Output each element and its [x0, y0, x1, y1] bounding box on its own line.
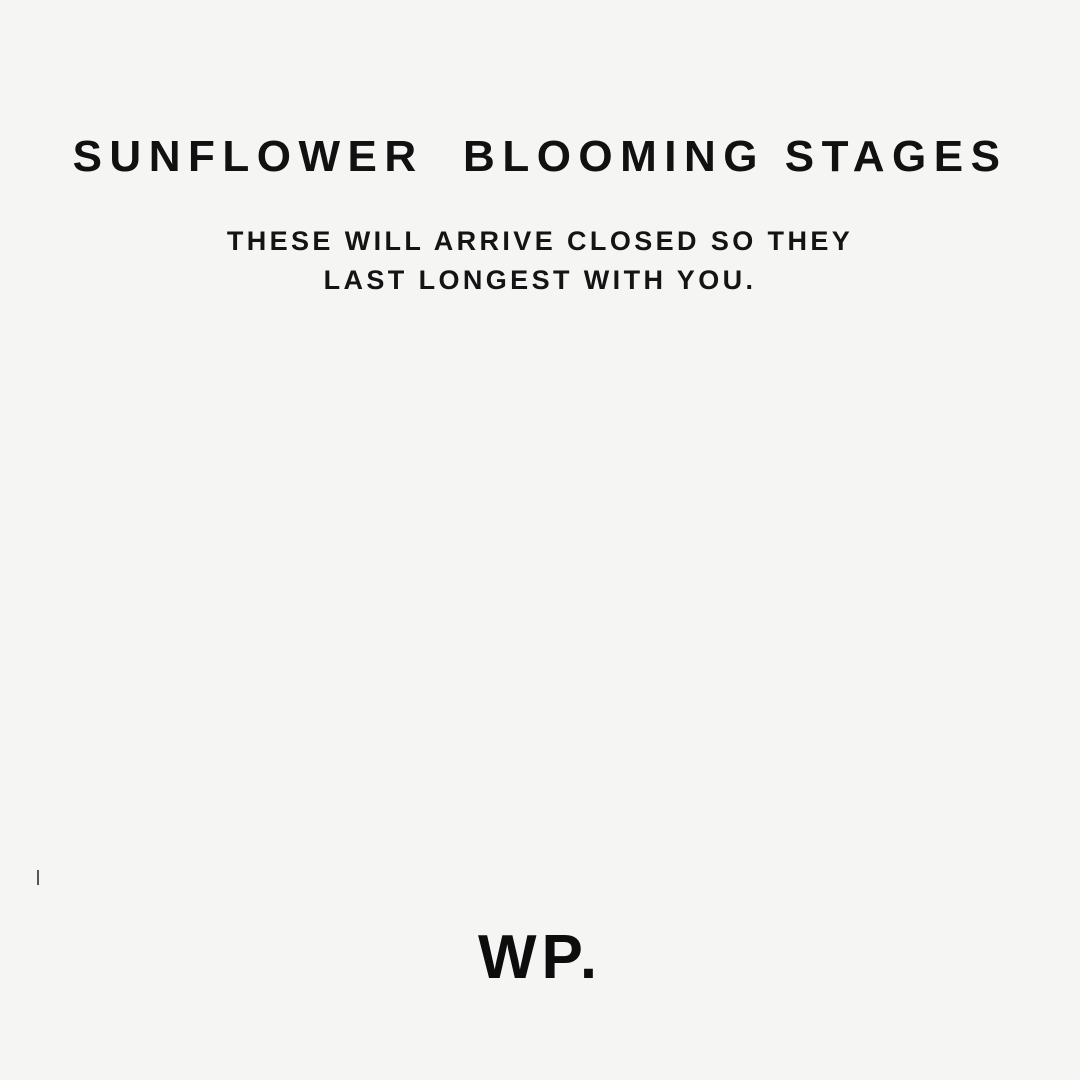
sunflower-stage-row: [0, 0, 1080, 1080]
sunflower-blooming-stages-poster: SUNFLOWER BLOOMING STAGES THESE WILL ARR…: [0, 0, 1080, 1080]
brand-logo: WP.: [0, 922, 1080, 993]
corner-tick-mark: [37, 870, 39, 885]
